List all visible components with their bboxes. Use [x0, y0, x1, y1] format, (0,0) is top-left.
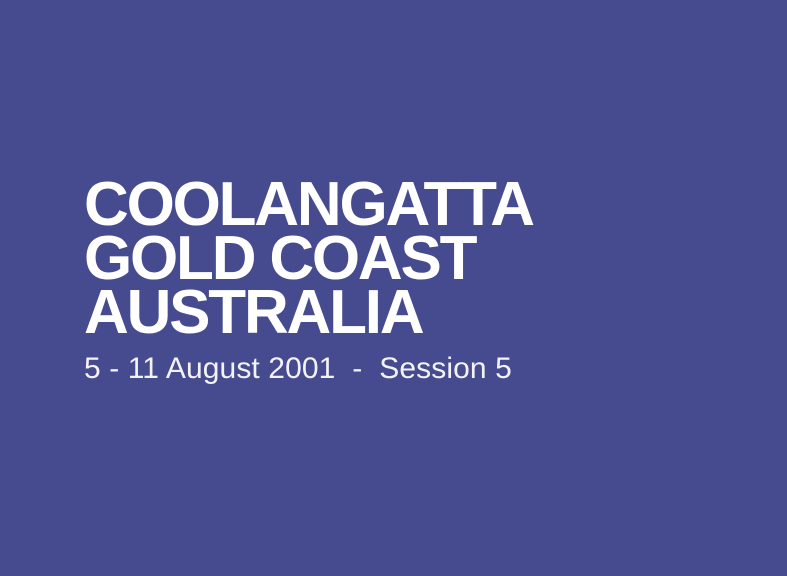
title-line-location-country: AUSTRALIA [84, 286, 724, 340]
title-slide: COOLANGATTA GOLD COAST AUSTRALIA 5 - 11 … [0, 0, 787, 576]
event-title: COOLANGATTA GOLD COAST AUSTRALIA [84, 178, 724, 340]
event-subtitle: 5 - 11 August 2001 - Session 5 [84, 352, 512, 386]
